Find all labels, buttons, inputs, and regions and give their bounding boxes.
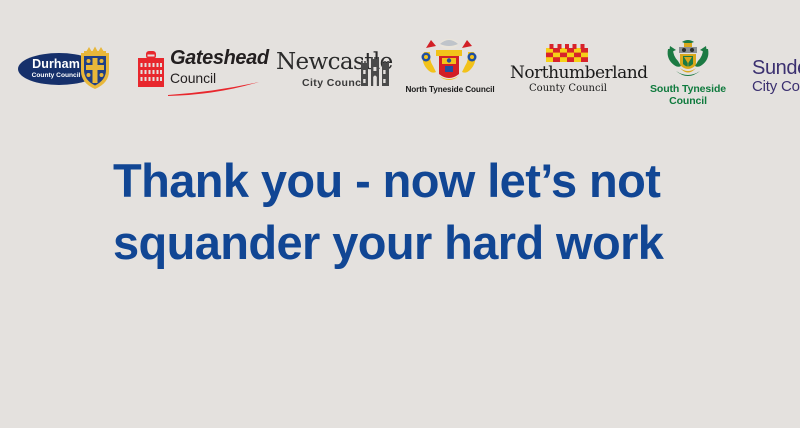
slide-headline: Thank you - now let’s not squander your … (113, 150, 713, 274)
south-tyneside-crest-icon (666, 37, 710, 81)
north-tyneside-crest-icon (418, 36, 480, 84)
sunderland-subtitle-line: City Council (752, 79, 800, 94)
durham-subtitle-line: County Council (32, 73, 81, 80)
gateshead-building-icon (136, 48, 166, 88)
gateshead-name-line: Gateshead (170, 48, 269, 68)
north-tyneside-wordmark: North Tyneside Council (398, 85, 502, 94)
presentation-slide: Durham County Council (0, 0, 800, 428)
northumberland-name-line: Northumberland (510, 63, 626, 83)
headline-line-2: squander your hard work (113, 212, 713, 274)
logo-sunderland-city-council: Sunderland City Council (752, 38, 800, 100)
logo-newcastle-city-council: Newcastle City Council (274, 39, 392, 99)
northumberland-battlement-icon (546, 44, 588, 62)
gateshead-wordmark: Gateshead Council (170, 48, 269, 85)
newcastle-castle-icon (360, 53, 390, 87)
durham-crest-icon (78, 45, 112, 91)
logo-gateshead-council: Gateshead Council (132, 38, 260, 100)
council-logo-strip: Durham County Council (0, 34, 800, 104)
logo-north-tyneside-council: North Tyneside Council (398, 36, 502, 102)
logo-northumberland-county-council: Northumberland County Council (510, 38, 626, 100)
durham-name-line: Durham (32, 58, 80, 71)
logo-south-tyneside-council: South Tyneside Council (630, 37, 746, 101)
newcastle-subtitle-line: City Council (302, 77, 368, 89)
south-tyneside-wordmark: South Tyneside Council (630, 83, 746, 107)
headline-line-1: Thank you - now let’s not (113, 150, 713, 212)
gateshead-swoosh-icon (168, 82, 260, 96)
northumberland-subtitle-line: County Council (510, 83, 626, 94)
logo-durham-county-council: Durham County Council (16, 39, 124, 99)
sunderland-name-line: Sunderland (752, 58, 800, 78)
